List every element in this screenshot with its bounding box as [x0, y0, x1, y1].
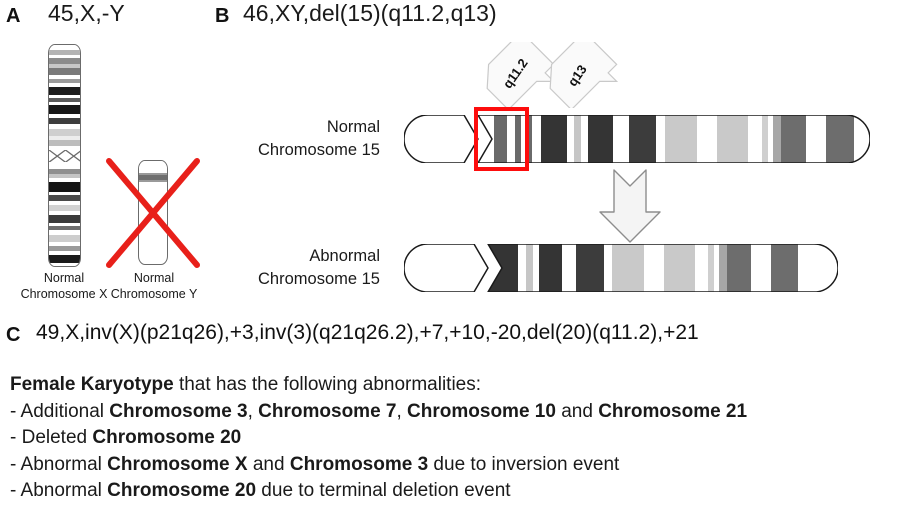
chromosome-band — [714, 244, 719, 292]
panel-b-title: 46,XY,del(15)(q11.2,q13) — [243, 2, 497, 25]
chromosome-band — [771, 244, 798, 292]
chromosome-band — [574, 115, 581, 163]
chromosome-band — [695, 244, 708, 292]
chromosome-band — [49, 182, 80, 192]
panel-c-bullet: - Abnormal Chromosome X and Chromosome 3… — [10, 452, 747, 479]
bullet-text: , — [396, 401, 407, 422]
panel-a-letter: A — [6, 6, 20, 26]
panel-a-title: 45,X,-Y — [48, 2, 125, 25]
chromosome-band — [826, 115, 854, 163]
bullet-text: , — [248, 401, 259, 422]
chromosome-band — [541, 115, 567, 163]
bullet-text: and — [248, 454, 290, 475]
chromosome-band — [751, 244, 771, 292]
chromosome-band — [644, 244, 664, 292]
normal-chromosome-15-label: Normal Chromosome 15 — [232, 116, 380, 162]
panel-c-bullet: - Deleted Chromosome 20 — [10, 425, 747, 452]
bullet-emphasis: Chromosome X — [107, 454, 247, 475]
panel-c-intro-rest: that has the following abnormalities: — [174, 374, 481, 395]
chromosome-band — [656, 115, 665, 163]
chromosome-band — [139, 182, 167, 205]
chromosome-band — [717, 115, 748, 163]
chromosome-band — [612, 244, 644, 292]
chromosome-band — [49, 235, 80, 242]
abnormal-chromosome-15-label-line1: Abnormal — [232, 245, 380, 268]
chromosome-band — [719, 244, 727, 292]
chromosome-y-caption: Normal Chromosome Y — [98, 270, 210, 302]
chromosome-band — [629, 115, 656, 163]
deletion-arrow-down-icon — [592, 168, 668, 244]
panel-c-bullet: - Abnormal Chromosome 20 due to terminal… — [10, 478, 747, 505]
p-arm — [404, 244, 488, 292]
bullet-emphasis: Chromosome 20 — [92, 427, 241, 448]
chromosome-band — [854, 115, 866, 163]
panel-c-karyotype: 49,X,inv(X)(p21q26),+3,inv(3)(q21q26.2),… — [36, 322, 699, 343]
bullet-text: - Additional — [10, 401, 109, 422]
bullet-text: - Deleted — [10, 427, 92, 448]
chromosome-x-body — [48, 44, 81, 267]
chromosome-band — [532, 115, 541, 163]
chromosome-band — [588, 115, 613, 163]
chromosome-band — [708, 244, 714, 292]
chromosome-band — [576, 244, 604, 292]
bullet-text: - Abnormal — [10, 454, 107, 475]
panel-c-abnormality-list: Female Karyotype that has the following … — [10, 372, 747, 505]
abnormal-chromosome-15-body — [404, 244, 838, 292]
chromosome-band — [526, 244, 533, 292]
chromosome-band — [539, 244, 562, 292]
chromosome-band — [604, 244, 612, 292]
abnormal-chromosome-15-label-line2: Chromosome 15 — [232, 268, 380, 291]
bullet-text: - Abnormal — [10, 480, 107, 501]
abnormal-chromosome-15-drawing — [404, 244, 838, 292]
chromosome-band — [727, 244, 751, 292]
chromosome-band — [665, 115, 697, 163]
chromosome-band — [567, 115, 574, 163]
abnormal-chromosome-15-label: Abnormal Chromosome 15 — [232, 245, 380, 291]
bullet-text: due to inversion event — [428, 454, 619, 475]
bullet-text: due to terminal deletion event — [256, 480, 511, 501]
callout-q13: q13 — [546, 42, 618, 113]
normal-chromosome-15-label-line2: Chromosome 15 — [232, 139, 380, 162]
p-arm — [404, 115, 478, 163]
chromosome-band — [139, 161, 167, 173]
bullet-emphasis: Chromosome 21 — [598, 401, 747, 422]
chromosome-band — [518, 244, 526, 292]
chromosome-y-caption-line2: Chromosome Y — [98, 286, 210, 302]
bullet-emphasis: Chromosome 10 — [407, 401, 556, 422]
chromosome-band — [781, 115, 806, 163]
chromosome-band — [762, 115, 768, 163]
chromosome-band — [562, 244, 576, 292]
normal-chromosome-15-label-line1: Normal — [232, 116, 380, 139]
chromosome-band — [49, 215, 80, 223]
chromosome-band — [806, 115, 826, 163]
chromosome-band — [613, 115, 629, 163]
panel-c-bullet: - Additional Chromosome 3, Chromosome 7,… — [10, 399, 747, 426]
chromosome-band — [49, 68, 80, 75]
bullet-emphasis: Chromosome 7 — [258, 401, 396, 422]
chromosome-band — [49, 263, 80, 267]
bullet-text: and — [556, 401, 598, 422]
chromosome-band — [773, 115, 781, 163]
bullet-emphasis: Chromosome 20 — [107, 480, 256, 501]
chromosome-band — [49, 105, 80, 114]
panel-c-intro-bold: Female Karyotype — [10, 374, 174, 395]
chromosome-band — [581, 115, 588, 163]
chromosome-band — [664, 244, 695, 292]
chromosome-band — [798, 244, 812, 292]
chromosome-band — [768, 115, 773, 163]
chromosome-y-caption-line1: Normal — [98, 270, 210, 286]
callout-q11-2: q11.2 — [483, 42, 555, 113]
bullet-emphasis: Chromosome 3 — [109, 401, 247, 422]
chromosome-band — [49, 162, 80, 169]
panel-b-letter: B — [215, 6, 229, 26]
panel-c-intro: Female Karyotype that has the following … — [10, 372, 747, 399]
chromosome-band — [49, 129, 80, 136]
panel-c-letter: C — [6, 325, 20, 345]
chromosome-band — [748, 115, 762, 163]
chromosome-y-body — [138, 160, 168, 265]
bullet-emphasis: Chromosome 3 — [290, 454, 428, 475]
deleted-region-highlight — [474, 107, 529, 171]
centromere-outline — [49, 150, 81, 162]
chromosome-band — [49, 255, 80, 263]
panel-c-bullets: - Additional Chromosome 3, Chromosome 7,… — [10, 399, 747, 505]
chromosome-band — [533, 244, 539, 292]
chromosome-band — [697, 115, 717, 163]
chromosome-band — [49, 87, 80, 95]
